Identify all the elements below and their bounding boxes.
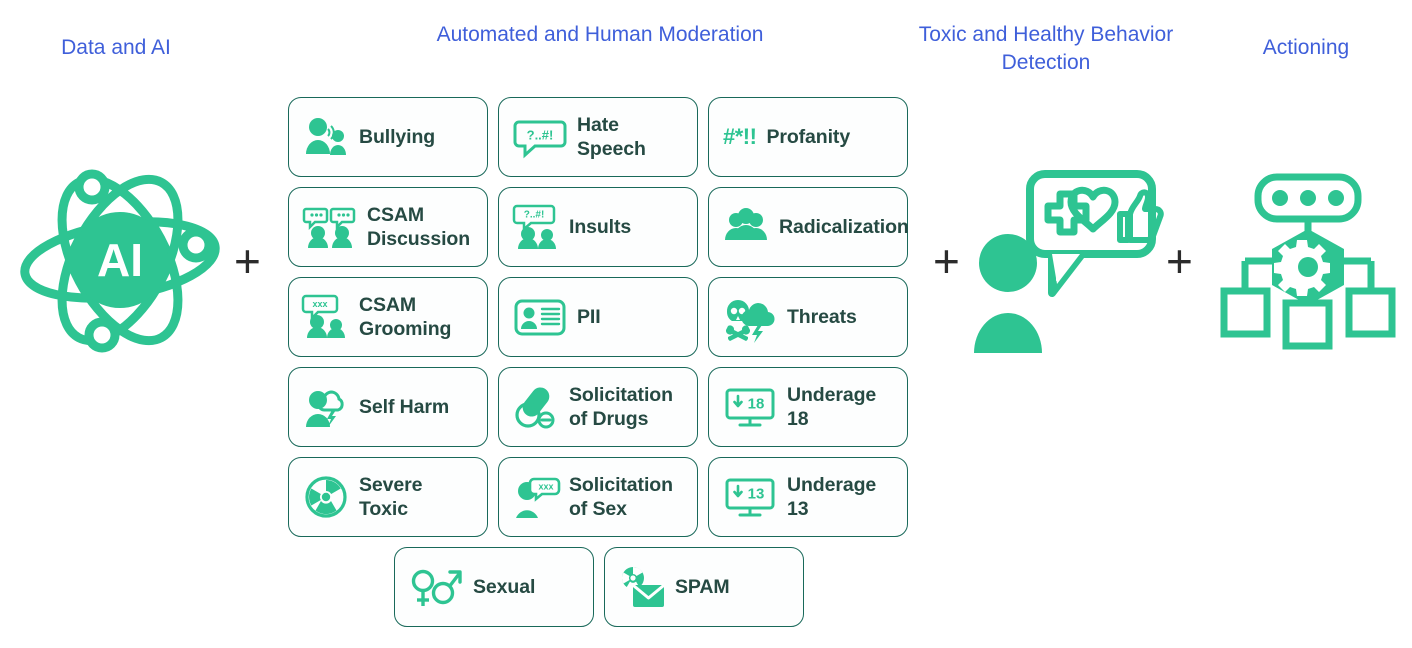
column-header-moderation: Automated and Human Moderation: [430, 21, 770, 49]
column-header-toxic-behavior: Toxic and Healthy Behavior Detection: [880, 21, 1212, 77]
skull-storm-icon: [723, 294, 777, 340]
card-label: CSAM Discussion: [367, 203, 470, 251]
card-underage-13[interactable]: 13 Underage 13: [708, 457, 908, 537]
card-profanity[interactable]: #*!! Profanity: [708, 97, 908, 177]
card-csam-discussion[interactable]: CSAM Discussion: [288, 187, 488, 267]
card-label: Underage 18: [787, 383, 876, 431]
plus-operator-3: +: [1166, 238, 1193, 284]
csam-grooming-icon: xxx: [303, 294, 349, 340]
atom-ai-icon: AI: [20, 163, 220, 358]
icon-text: #*!!: [723, 124, 756, 150]
card-label: PII: [577, 305, 601, 329]
card-label: Bullying: [359, 125, 435, 149]
underage-monitor-icon: 13: [723, 474, 777, 520]
card-hate-speech[interactable]: ?..#! Hate Speech: [498, 97, 698, 177]
hate-speech-bubble-icon: ?..#!: [513, 114, 567, 160]
card-label: Radicalization: [779, 215, 909, 239]
radicalization-group-icon: [723, 204, 769, 250]
card-label: SPAM: [675, 575, 730, 599]
icon-text: ?..#!: [527, 128, 554, 143]
icon-text: ?..#!: [524, 210, 545, 221]
icon-text: xxx: [538, 482, 553, 492]
card-label: CSAM Grooming: [359, 293, 451, 341]
insults-icon: ?..#!: [513, 204, 559, 250]
card-self-harm[interactable]: Self Harm: [288, 367, 488, 447]
card-label: Underage 13: [787, 473, 876, 521]
column-header-actioning: Actioning: [1200, 34, 1412, 62]
radiation-icon: [303, 474, 349, 520]
card-label: Self Harm: [359, 395, 449, 419]
person-positive-feedback-icon: [960, 168, 1160, 358]
csam-discussion-icon: [303, 204, 357, 250]
icon-text: 13: [748, 486, 765, 503]
spam-envelope-icon: [619, 564, 665, 610]
card-label: Severe Toxic: [359, 473, 422, 521]
underage-monitor-icon: 18: [723, 384, 777, 430]
drug-pills-icon: [513, 384, 559, 430]
gender-symbols-icon: [409, 564, 463, 610]
card-label: Solicitation of Sex: [569, 473, 673, 521]
card-label: Threats: [787, 305, 857, 329]
icon-text: xxx: [312, 299, 327, 309]
card-solicitation-drugs[interactable]: Solicitation of Drugs: [498, 367, 698, 447]
card-pii[interactable]: PII: [498, 277, 698, 357]
card-label: Insults: [569, 215, 631, 239]
workflow-gear-icon: [1218, 173, 1398, 348]
card-label: Solicitation of Drugs: [569, 383, 673, 431]
card-severe-toxic[interactable]: Severe Toxic: [288, 457, 488, 537]
profanity-symbols-icon: #*!!: [723, 114, 756, 160]
card-label: Sexual: [473, 575, 535, 599]
card-underage-18[interactable]: 18 Underage 18: [708, 367, 908, 447]
atom-ai-label: AI: [97, 234, 143, 286]
diagram-canvas: Data and AI Automated and Human Moderati…: [0, 0, 1412, 648]
self-harm-icon: [303, 384, 349, 430]
card-sexual[interactable]: Sexual: [394, 547, 594, 627]
card-radicalization[interactable]: Radicalization: [708, 187, 908, 267]
card-threats[interactable]: Threats: [708, 277, 908, 357]
card-bullying[interactable]: Bullying: [288, 97, 488, 177]
card-insults[interactable]: ?..#! Insults: [498, 187, 698, 267]
id-card-icon: [513, 294, 567, 340]
card-spam[interactable]: SPAM: [604, 547, 804, 627]
card-solicitation-sex[interactable]: xxx Solicitation of Sex: [498, 457, 698, 537]
card-csam-grooming[interactable]: xxx CSAM Grooming: [288, 277, 488, 357]
card-label: Hate Speech: [577, 113, 646, 161]
column-header-data-and-ai: Data and AI: [10, 34, 222, 62]
plus-operator-1: +: [234, 238, 261, 284]
solicitation-sex-icon: xxx: [513, 474, 559, 520]
bullying-icon: [303, 114, 349, 160]
card-label: Profanity: [766, 125, 850, 149]
icon-text: 18: [748, 396, 765, 413]
plus-operator-2: +: [933, 238, 960, 284]
